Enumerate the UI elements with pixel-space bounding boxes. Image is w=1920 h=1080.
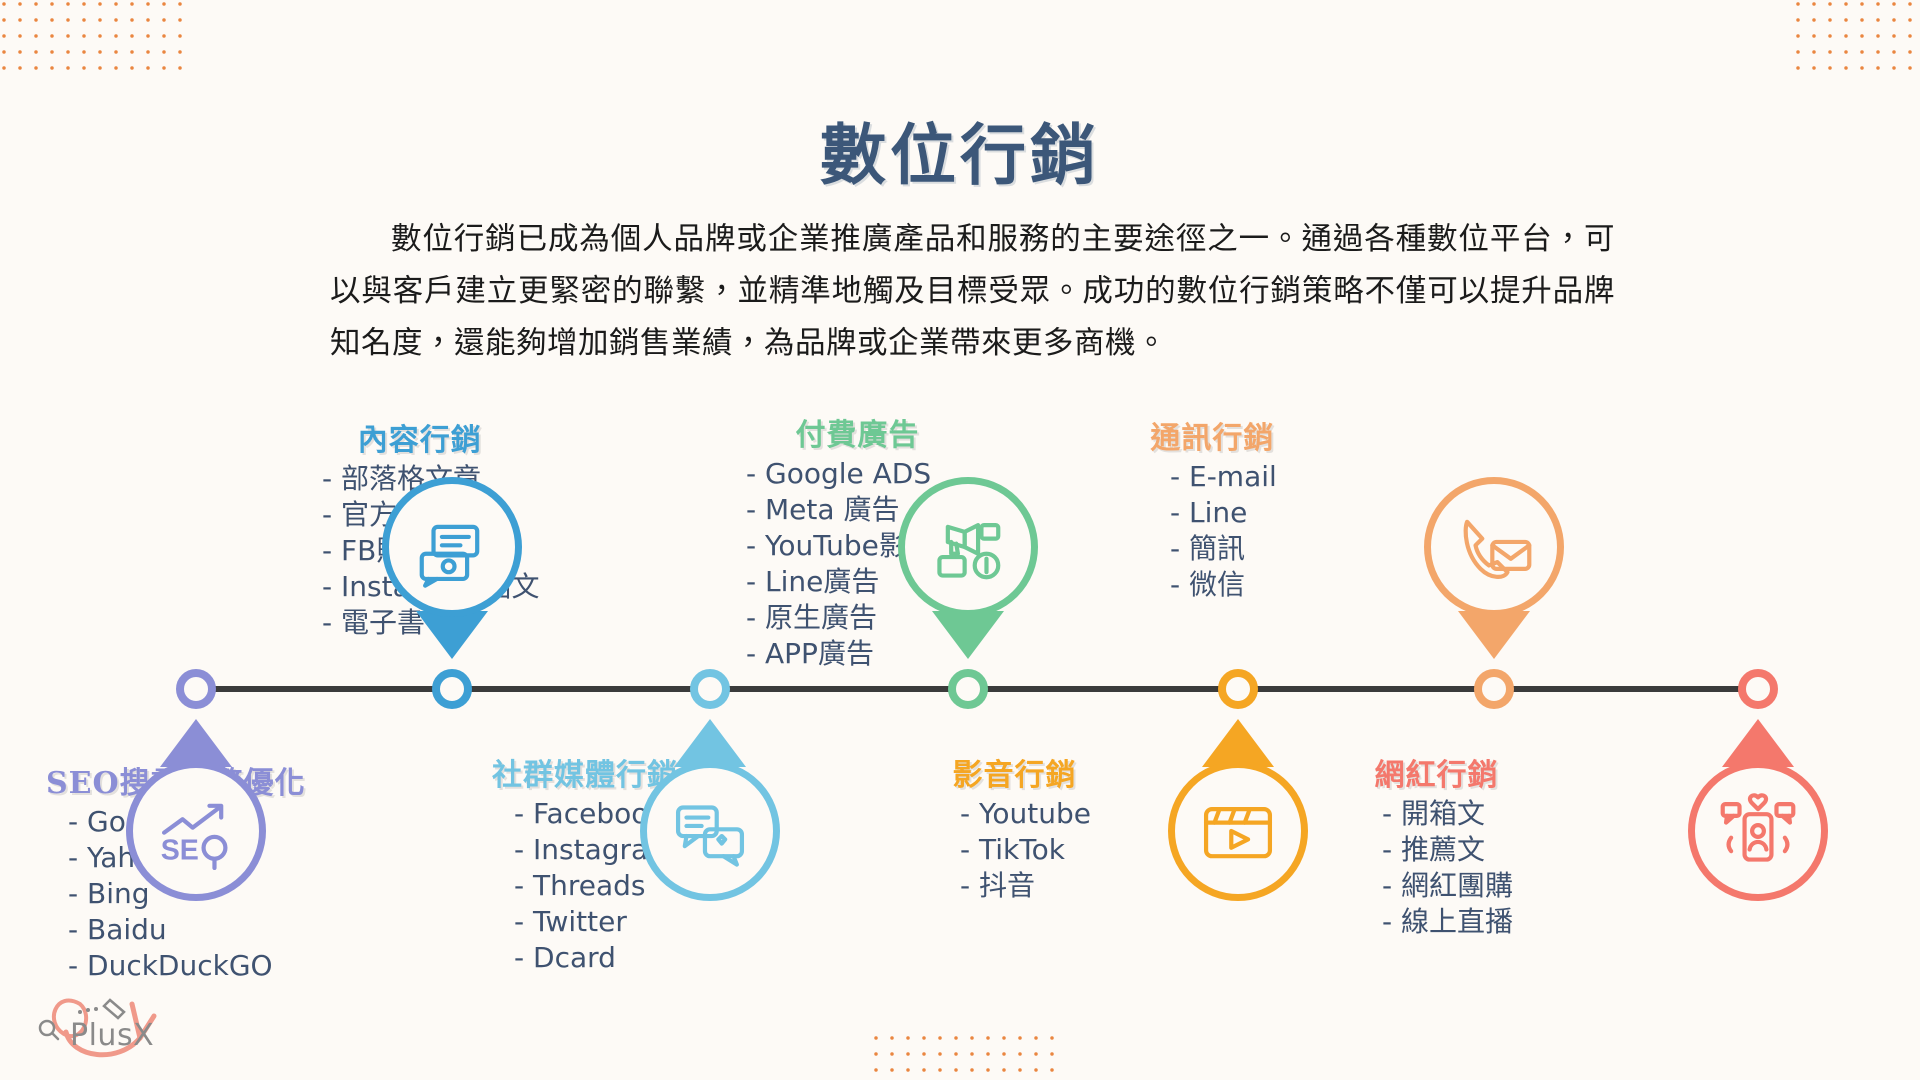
page-title: 數位行銷: [0, 102, 1920, 198]
svg-text:SE: SE: [161, 835, 199, 867]
section-heading-content-marketing: 內容行銷: [300, 415, 539, 459]
list-item: Twitter: [514, 904, 678, 940]
timeline-node-content-marketing[interactable]: [432, 669, 472, 709]
pin-circle-paid-ads: [898, 477, 1038, 617]
influencer-phone-icon: [1716, 789, 1800, 873]
pin-tail-content-marketing: [416, 611, 488, 659]
list-item: DuckDuckGO: [68, 948, 306, 984]
seo-growth-chart-icon: SE: [154, 789, 238, 873]
pin-tail-influencer-marketing: [1722, 719, 1794, 767]
list-item: TikTok: [960, 832, 1091, 868]
email-phone-icon: [1452, 505, 1536, 589]
timeline-node-video-marketing[interactable]: [1218, 669, 1258, 709]
paid-ads-megaphone-icon: [926, 505, 1010, 589]
section-heading-paid-ads: 付費廣告: [724, 410, 991, 454]
timeline-node-influencer-marketing[interactable]: [1738, 669, 1778, 709]
pin-tail-video-marketing: [1202, 719, 1274, 767]
decorative-dots-bottom-center: [868, 1030, 1058, 1074]
timeline-node-messaging-marketing[interactable]: [1474, 669, 1514, 709]
section-heading-video-marketing: 影音行銷: [938, 750, 1091, 794]
pin-video-marketing[interactable]: [1168, 761, 1308, 901]
pin-circle-seo: SE: [126, 761, 266, 901]
video-player-icon: [1196, 789, 1280, 873]
list-item: Line: [1170, 495, 1277, 531]
list-item: 開箱文: [1382, 796, 1513, 832]
pin-circle-messaging-marketing: [1424, 477, 1564, 617]
pin-circle-social-media-marketing: [640, 761, 780, 901]
pin-messaging-marketing[interactable]: [1424, 477, 1564, 617]
list-item: Baidu: [68, 912, 306, 948]
section-heading-messaging-marketing: 通訊行銷: [1148, 413, 1277, 457]
pin-paid-ads[interactable]: [898, 477, 1038, 617]
section-block-messaging-marketing: 通訊行銷E-mailLine簡訊微信: [1148, 413, 1277, 603]
intro-paragraph: 數位行銷已成為個人品牌或企業推廣產品和服務的主要途徑之一。通過各種數位平台，可以…: [330, 214, 1615, 370]
pin-content-marketing[interactable]: [382, 477, 522, 617]
pin-seo[interactable]: SE: [126, 761, 266, 901]
section-block-video-marketing: 影音行銷YoutubeTikTok抖音: [938, 750, 1091, 904]
decorative-dots-top-right: [1790, 0, 1920, 70]
list-item: 線上直播: [1382, 904, 1513, 940]
pin-circle-content-marketing: [382, 477, 522, 617]
plusx-logo: PlusX: [22, 982, 192, 1068]
section-block-influencer-marketing: 網紅行銷開箱文推薦文網紅團購線上直播: [1360, 750, 1513, 940]
pin-tail-paid-ads: [932, 611, 1004, 659]
list-item: Dcard: [514, 940, 678, 976]
pin-social-media-marketing[interactable]: [640, 761, 780, 901]
list-item: 簡訊: [1170, 531, 1277, 567]
timeline-node-seo[interactable]: [176, 669, 216, 709]
pin-tail-messaging-marketing: [1458, 611, 1530, 659]
section-list-video-marketing: YoutubeTikTok抖音: [938, 796, 1091, 904]
section-heading-influencer-marketing: 網紅行銷: [1360, 750, 1513, 794]
list-item: 網紅團購: [1382, 868, 1513, 904]
social-chat-bubbles-icon: [668, 789, 752, 873]
list-item: 抖音: [960, 868, 1091, 904]
list-item: 微信: [1170, 567, 1277, 603]
pin-circle-influencer-marketing: [1688, 761, 1828, 901]
list-item: Youtube: [960, 796, 1091, 832]
pin-influencer-marketing[interactable]: [1688, 761, 1828, 901]
list-item: 推薦文: [1382, 832, 1513, 868]
logo-text: PlusX: [70, 1018, 154, 1053]
timeline-node-social-media-marketing[interactable]: [690, 669, 730, 709]
timeline-node-paid-ads[interactable]: [948, 669, 988, 709]
pin-circle-video-marketing: [1168, 761, 1308, 901]
decorative-dots-top-left: [0, 0, 186, 70]
content-documents-icon: [410, 505, 494, 589]
pin-tail-seo: [160, 719, 232, 767]
section-list-messaging-marketing: E-mailLine簡訊微信: [1148, 459, 1277, 603]
section-list-influencer-marketing: 開箱文推薦文網紅團購線上直播: [1360, 796, 1513, 940]
list-item: E-mail: [1170, 459, 1277, 495]
pin-tail-social-media-marketing: [674, 719, 746, 767]
